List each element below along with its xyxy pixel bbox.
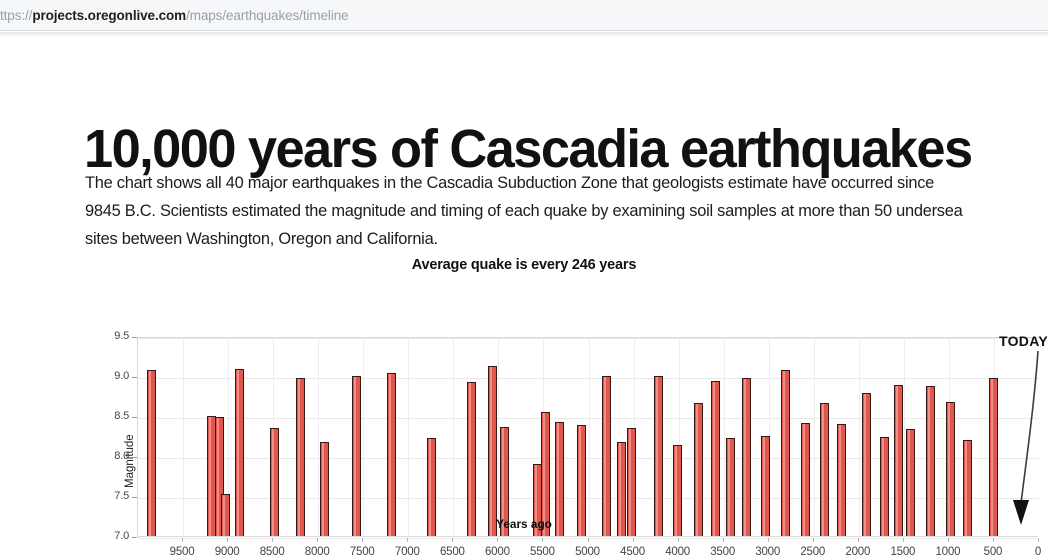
y-axis-tick-mark [132,417,137,418]
quake-bar[interactable] [235,369,244,536]
bar-highlight [149,371,151,536]
quake-bar[interactable] [711,381,720,536]
bar-highlight [237,370,239,536]
y-axis-tick-mark [132,457,137,458]
x-gridline [814,338,815,538]
x-gridline [859,338,860,538]
bar-highlight [864,394,866,536]
x-gridline [453,338,454,538]
x-axis-tick-mark [633,538,634,542]
y-axis-tick-mark [132,497,137,498]
x-axis-tick-mark [272,538,273,542]
x-gridline [589,338,590,538]
x-axis-tick-mark [588,538,589,542]
x-axis-tick-mark [813,538,814,542]
y-axis-tick-mark [132,377,137,378]
quake-bar[interactable] [894,385,903,536]
quake-bar[interactable] [654,376,663,536]
url-text[interactable]: ttps://projects.oregonlive.com/maps/eart… [0,8,349,23]
x-gridline [408,338,409,538]
x-axis-tick-mark [948,538,949,542]
url-path: /maps/earthquakes/timeline [186,8,349,23]
browser-url-bar[interactable]: ttps://projects.oregonlive.com/maps/eart… [0,0,1048,31]
quake-bar[interactable] [989,378,998,536]
bar-highlight [469,383,471,536]
y-axis-tick-label: 9.0 [89,370,129,382]
x-axis-tick-mark [1038,538,1039,542]
quake-bar[interactable] [147,370,156,536]
y-axis-tick-mark [132,337,137,338]
bar-highlight [490,367,492,536]
x-axis-tick-mark [678,538,679,542]
bar-highlight [389,374,391,536]
bar-highlight [298,379,300,536]
x-gridline [183,338,184,538]
quake-bar[interactable] [742,378,751,536]
bar-highlight [783,371,785,536]
quake-bar[interactable] [862,393,871,536]
today-arrow-icon [1000,345,1044,531]
x-axis-tick-mark [723,538,724,542]
article-standfirst: The chart shows all 40 major earthquakes… [85,169,970,253]
bar-highlight [896,386,898,536]
bar-highlight [991,379,993,536]
bar-highlight [656,377,658,536]
quake-bar[interactable] [467,382,476,536]
x-axis-tick-mark [407,538,408,542]
quake-bar[interactable] [296,378,305,536]
x-axis-tick-mark [452,538,453,542]
x-axis-tick-label: 0 [1008,546,1048,558]
y-axis-tick-label: 7.0 [89,530,129,542]
x-axis-tick-mark [362,538,363,542]
quake-bar[interactable] [387,373,396,536]
y-axis-tick-mark [132,537,137,538]
x-gridline [724,338,725,538]
quake-bar[interactable] [946,402,955,536]
url-prefix: ttps:// [0,8,32,23]
article-page: 10,000 years of Cascadia earthquakes The… [0,37,1048,550]
x-axis-tick-mark [182,538,183,542]
bar-highlight [928,387,930,536]
x-axis-tick-mark [903,538,904,542]
y-axis-tick-label: 9.5 [89,330,129,342]
chart-title: Average quake is every 246 years [0,257,1048,273]
bar-highlight [713,382,715,536]
x-axis-tick-mark [542,538,543,542]
x-axis-tick-mark [993,538,994,542]
x-axis-tick-mark [227,538,228,542]
x-axis-tick-mark [497,538,498,542]
x-axis-label: Years ago [0,517,1048,531]
y-axis-tick-label: 8.0 [89,450,129,462]
quake-bar[interactable] [602,376,611,536]
y-axis-tick-label: 8.5 [89,410,129,422]
quake-bar[interactable] [926,386,935,536]
bar-highlight [604,377,606,536]
quake-bar[interactable] [488,366,497,536]
bar-highlight [354,377,356,536]
url-host: projects.oregonlive.com [32,8,186,23]
y-gridline [138,538,1039,539]
x-axis-tick-mark [768,538,769,542]
quake-bar[interactable] [352,376,361,536]
x-axis-tick-mark [858,538,859,542]
x-gridline [363,338,364,538]
chart-plot-area: Magnitude [137,337,1038,537]
bar-highlight [744,379,746,536]
y-axis-tick-label: 7.5 [89,490,129,502]
x-axis-tick-mark [317,538,318,542]
earthquake-timeline-chart: Average quake is every 246 years Magnitu… [0,245,1048,550]
quake-bar[interactable] [781,370,790,536]
